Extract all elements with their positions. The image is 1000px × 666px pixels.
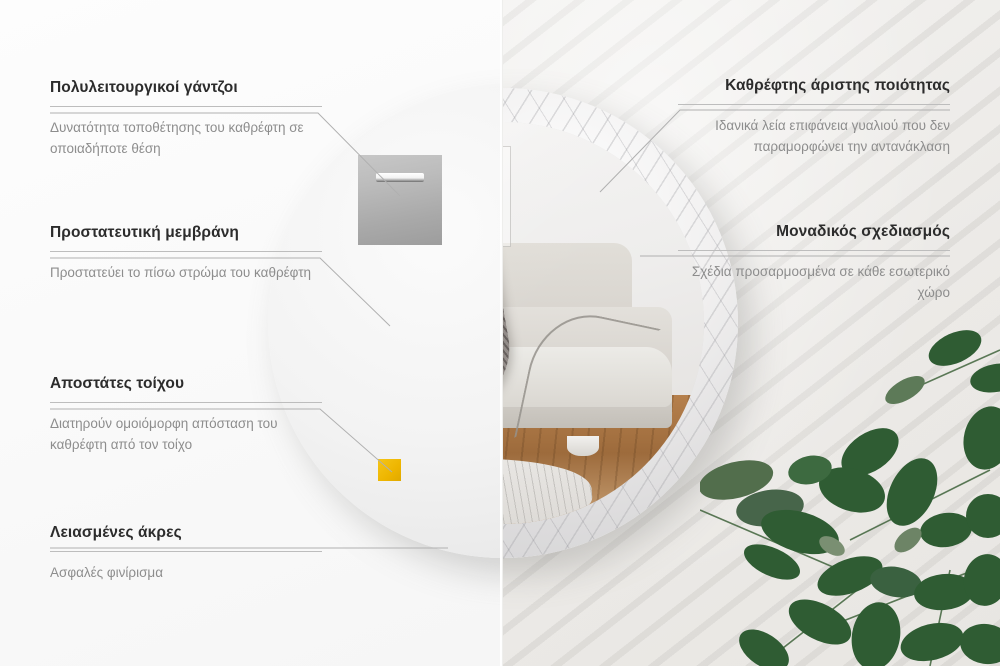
callout-spacers-title: Αποστάτες τοίχου (50, 374, 322, 393)
callout-spacers-body: Διατηρούν ομοιόμορφη απόσταση του καθρέφ… (50, 414, 322, 456)
callout-rule (50, 251, 322, 252)
callout-hooks-title: Πολυλειτουργικοί γάντζοι (50, 78, 322, 97)
callout-membrane-body: Προστατεύει το πίσω στρώμα του καθρέφτη (50, 263, 322, 284)
callout-quality-mirror: Καθρέφτης άριστης ποιότητας Ιδανικά λεία… (678, 76, 950, 158)
product-infographic: Πολυλειτουργικοί γάντζοι Δυνατότητα τοπο… (0, 0, 1000, 666)
callout-spacers: Αποστάτες τοίχου Διατηρούν ομοιόμορφη απ… (50, 374, 322, 456)
callout-unique-design: Μοναδικός σχεδιασμός Σχέδια προσαρμοσμέν… (678, 222, 950, 304)
callout-rule (50, 551, 322, 552)
callout-hooks-body: Δυνατότητα τοποθέτησης του καθρέφτη σε ο… (50, 118, 322, 160)
callout-rule (678, 250, 950, 251)
callout-edges-title: Λειασμένες άκρες (50, 523, 322, 542)
callout-rule (678, 104, 950, 105)
callout-unique-design-title: Μοναδικός σχεδιασμός (678, 222, 950, 241)
callout-membrane: Προστατευτική μεμβράνη Προστατεύει το πί… (50, 223, 322, 284)
callout-hooks: Πολυλειτουργικοί γάντζοι Δυνατότητα τοπο… (50, 78, 322, 160)
callout-rule (50, 402, 322, 403)
foreground-plant (700, 330, 1000, 666)
callout-rule (50, 106, 322, 107)
callout-quality-mirror-title: Καθρέφτης άριστης ποιότητας (678, 76, 950, 95)
reflected-lamp-shade (567, 436, 599, 456)
hook-plate-marker (358, 155, 442, 245)
wall-spacer-marker (378, 459, 401, 481)
callout-edges: Λειασμένες άκρες Ασφαλές φινίρισμα (50, 523, 322, 584)
callout-unique-design-body: Σχέδια προσαρμοσμένα σε κάθε εσωτερικό χ… (678, 262, 950, 304)
callout-membrane-title: Προστατευτική μεμβράνη (50, 223, 322, 242)
panel-divider (500, 0, 503, 666)
callout-quality-mirror-body: Ιδανικά λεία επιφάνεια γυαλιού που δεν π… (678, 116, 950, 158)
hook-slot (376, 173, 423, 182)
callout-edges-body: Ασφαλές φινίρισμα (50, 563, 322, 584)
round-mirror-product (268, 88, 738, 558)
